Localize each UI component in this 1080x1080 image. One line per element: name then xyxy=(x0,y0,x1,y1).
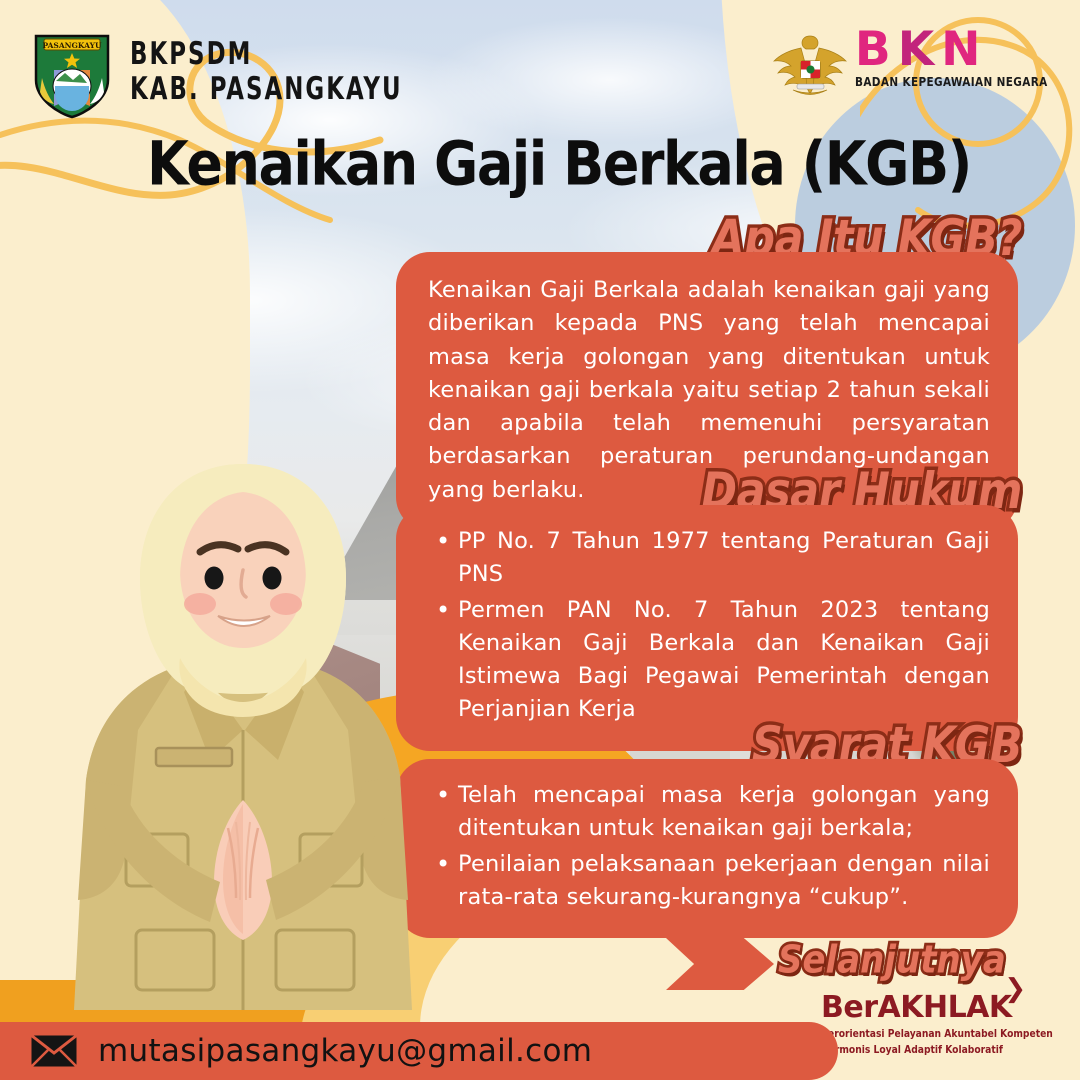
envelope-icon xyxy=(30,1034,78,1068)
pasangkayu-crest-icon: PASANGKAYU xyxy=(30,24,114,120)
bkn-letter-b: B xyxy=(855,28,898,73)
list-item: PP No. 7 Tahun 1977 tentang Peraturan Ga… xyxy=(458,525,990,592)
panel-dasar-hukum: PP No. 7 Tahun 1977 tentang Peraturan Ga… xyxy=(396,505,1018,751)
berakhlak-tick-icon: ❯ xyxy=(1004,974,1025,1004)
dasar-hukum-list: PP No. 7 Tahun 1977 tentang Peraturan Ga… xyxy=(430,525,990,727)
bkn-letter-n: N xyxy=(941,28,987,73)
berakhlak-tagline-line2: Harmonis Loyal Adaptif Kolaboratif xyxy=(821,1043,1053,1057)
list-item: Penilaian pelaksanaan pekerjaan dengan n… xyxy=(458,848,990,915)
bkn-letters: BKN xyxy=(855,28,988,73)
syarat-kgb-list: Telah mencapai masa kerja golongan yang … xyxy=(430,779,990,914)
bkn-subtitle: BADAN KEPEGAWAIAN NEGARA xyxy=(855,74,1048,89)
email-address: mutasipasangkayu@gmail.com xyxy=(98,1033,592,1069)
org-name-line2: KAB. PASANGKAYU xyxy=(130,72,403,107)
crest-caption-text: PASANGKAYU xyxy=(43,41,102,50)
berakhlak-title: BerAKHLAK ❯ xyxy=(821,990,1012,1025)
bkn-logo-block: BKN BADAN KEPEGAWAIAN NEGARA xyxy=(771,28,1062,102)
garuda-icon xyxy=(771,28,849,102)
brand-block: PASANGKAYU BKPSDM KAB. PASANGKAYU xyxy=(30,24,462,120)
bkn-letter-k: K xyxy=(898,28,941,73)
infographic-poster: PASANGKAYU BKPSDM KAB. PASANGKAYU xyxy=(0,0,1080,1080)
berakhlak-tagline-line1: Berorientasi Pelayanan Akuntabel Kompete… xyxy=(821,1027,1053,1041)
next-label: Selanjutnya xyxy=(778,938,1006,983)
email-contact-bar: mutasipasangkayu@gmail.com xyxy=(0,1022,838,1080)
list-item: Permen PAN No. 7 Tahun 2023 tentang Kena… xyxy=(458,594,990,727)
page-title: Kenaikan Gaji Berkala (KGB) xyxy=(147,128,971,199)
illustration-female-civil-servant xyxy=(60,430,440,1010)
berakhlak-title-text: BerAKHLAK xyxy=(821,990,1012,1025)
list-item: Telah mencapai masa kerja golongan yang … xyxy=(458,779,990,846)
berakhlak-logo: BerAKHLAK ❯ Berorientasi Pelayanan Akunt… xyxy=(821,990,1060,1057)
org-name-line1: BKPSDM xyxy=(130,37,403,72)
panel-syarat-kgb: Telah mencapai masa kerja golongan yang … xyxy=(396,759,1018,938)
